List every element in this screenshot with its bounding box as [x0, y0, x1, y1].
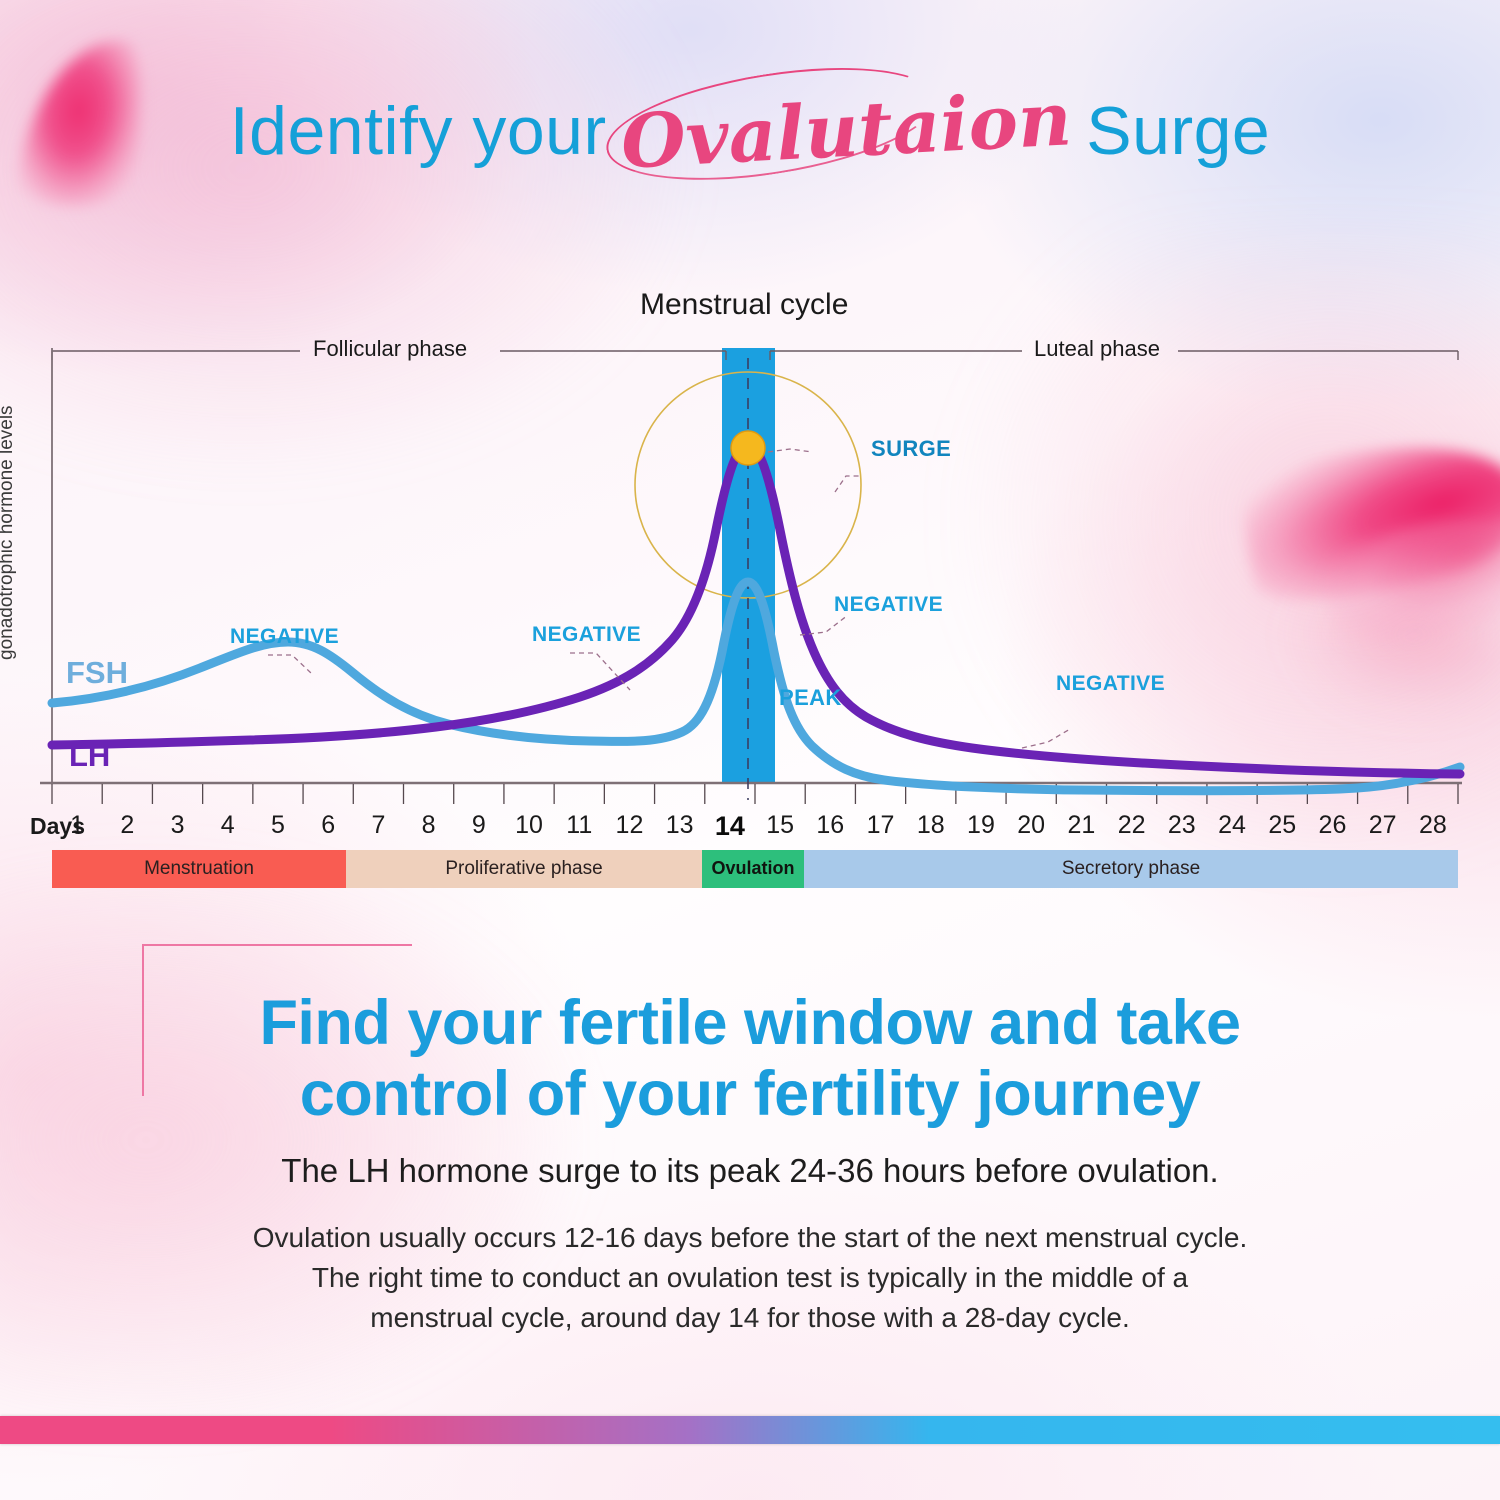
day-tick-label-27: 27: [1358, 811, 1408, 840]
paragraph-line-1: Ovulation usually occurs 12-16 days befo…: [150, 1218, 1350, 1258]
phase-label-ovulation: Ovulation: [702, 858, 804, 879]
day-tick-label-21: 21: [1056, 811, 1106, 840]
phase-label-menstruation: Menstruation: [52, 858, 346, 880]
day-tick-label-19: 19: [956, 811, 1006, 840]
bracket-label-follicular: Follicular phase: [313, 336, 467, 362]
day-tick-label-22: 22: [1107, 811, 1157, 840]
day-tick-label-11: 11: [554, 811, 604, 840]
day-tick-label-15: 15: [755, 811, 805, 840]
annotation-negative-3: NEGATIVE: [834, 593, 943, 617]
subtitle: The LH hormone surge to its peak 24-36 h…: [100, 1152, 1400, 1190]
headline-line-2: control of your fertility journey: [120, 1059, 1380, 1130]
day-tick-label-1: 1: [52, 811, 102, 840]
day-tick-label-14: 14: [705, 811, 755, 842]
series-label-fsh: FSH: [66, 655, 128, 691]
body-paragraph: Ovulation usually occurs 12-16 days befo…: [150, 1218, 1350, 1337]
chart-y-axis-label: gonadotrophic hormone levels: [0, 405, 18, 660]
day-tick-label-3: 3: [153, 811, 203, 840]
day-tick-label-8: 8: [404, 811, 454, 840]
day-tick-label-6: 6: [303, 811, 353, 840]
day-tick-label-5: 5: [253, 811, 303, 840]
title-part-2: Surge: [1086, 93, 1270, 169]
day-tick-label-9: 9: [454, 811, 504, 840]
day-tick-label-10: 10: [504, 811, 554, 840]
day-tick-label-18: 18: [906, 811, 956, 840]
footer-gradient-bar: [0, 1416, 1500, 1444]
day-tick-label-25: 25: [1257, 811, 1307, 840]
day-tick-label-7: 7: [353, 811, 403, 840]
headline: Find your fertile window and take contro…: [120, 988, 1380, 1130]
day-tick-label-12: 12: [604, 811, 654, 840]
day-tick-label-4: 4: [203, 811, 253, 840]
day-tick-label-13: 13: [655, 811, 705, 840]
day-tick-label-24: 24: [1207, 811, 1257, 840]
chart-title: Menstrual cycle: [640, 288, 848, 322]
day-tick-label-20: 20: [1006, 811, 1056, 840]
annotation-peak: PEAK: [779, 685, 842, 711]
day-tick-label-23: 23: [1157, 811, 1207, 840]
annotation-negative-1: NEGATIVE: [230, 625, 339, 649]
annotation-negative-2: NEGATIVE: [532, 623, 641, 647]
day-tick-label-28: 28: [1408, 811, 1458, 840]
paragraph-line-2: The right time to conduct an ovulation t…: [150, 1258, 1350, 1298]
annotation-surge: SURGE: [871, 436, 951, 462]
bracket-label-luteal: Luteal phase: [1034, 336, 1160, 362]
headline-line-1: Find your fertile window and take: [120, 988, 1380, 1059]
title-part-1: Identify your: [230, 93, 607, 169]
phase-label-secretory: Secretory phase: [804, 858, 1458, 880]
day-tick-label-26: 26: [1307, 811, 1357, 840]
infographic-page: Identify your Ovalutaion Surge gonadotro…: [0, 0, 1500, 1500]
day-tick-label-17: 17: [856, 811, 906, 840]
title-script-text: Ovalutaion: [619, 76, 1074, 185]
paragraph-line-3: menstrual cycle, around day 14 for those…: [150, 1298, 1350, 1338]
series-label-lh: LH: [69, 738, 110, 774]
day-tick-label-16: 16: [805, 811, 855, 840]
day-tick-label-2: 2: [102, 811, 152, 840]
lh-peak-dot: [731, 431, 765, 465]
page-title: Identify your Ovalutaion Surge: [0, 88, 1500, 174]
phase-label-proliferative: Proliferative phase: [346, 858, 702, 880]
annotation-negative-4: NEGATIVE: [1056, 672, 1165, 696]
title-script-word: Ovalutaion: [609, 76, 1084, 187]
menstrual-cycle-chart: gonadotrophic hormone levels: [0, 280, 1500, 910]
